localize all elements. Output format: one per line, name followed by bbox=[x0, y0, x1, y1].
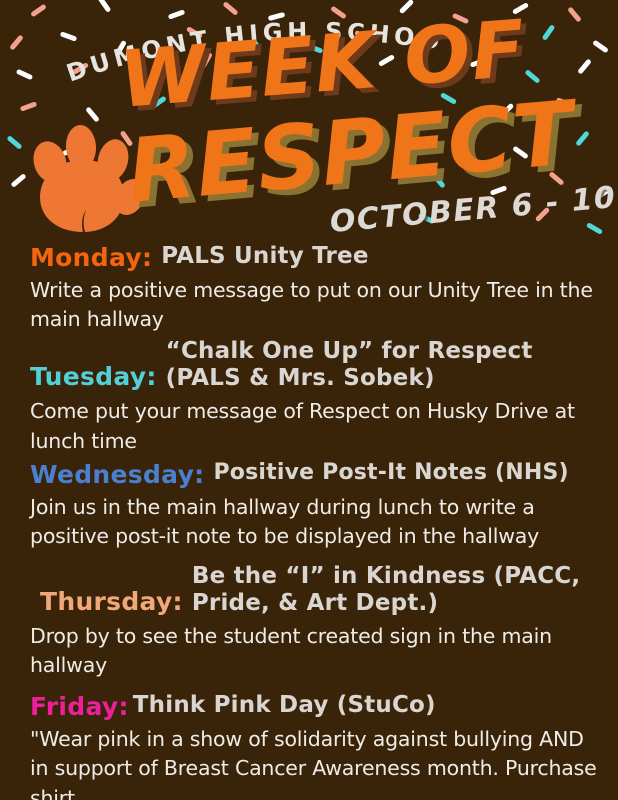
poster-hero: DUMONT HIGH SCHOOL WEEK OF RESPECT OCTOB… bbox=[0, 0, 618, 252]
schedule-item-monday: Monday: PALS Unity Tree Write a positive… bbox=[0, 245, 618, 334]
day-description-thursday: Drop by to see the student created sign … bbox=[30, 622, 600, 680]
day-description-tuesday: Come put your message of Respect on Husk… bbox=[30, 397, 600, 455]
day-description-friday: "Wear pink in a show of solidarity again… bbox=[30, 725, 600, 800]
day-label-tuesday: Tuesday: bbox=[30, 364, 157, 392]
day-label-wednesday: Wednesday: bbox=[30, 462, 204, 488]
schedule-item-thursday: Thursday: Be the “I” in Kindness (PACC, … bbox=[0, 563, 618, 680]
day-description-monday: Write a positive message to put on our U… bbox=[30, 276, 600, 334]
week-of-respect-poster: DUMONT HIGH SCHOOL WEEK OF RESPECT OCTOB… bbox=[0, 0, 618, 800]
schedule-item-friday: Friday: Think Pink Day (StuCo) "Wear pin… bbox=[0, 694, 618, 800]
day-title-wednesday: Positive Post-It Notes (NHS) bbox=[213, 462, 568, 485]
day-title-tuesday: “Chalk One Up” for Respect (PALS & Mrs. … bbox=[166, 338, 600, 392]
day-title-friday: Think Pink Day (StuCo) bbox=[133, 694, 436, 718]
schedule-item-wednesday: Wednesday: Positive Post-It Notes (NHS) … bbox=[0, 462, 618, 551]
day-label-thursday: Thursday: bbox=[40, 589, 183, 617]
day-label-friday: Friday: bbox=[30, 694, 129, 720]
schedule-list: Monday: PALS Unity Tree Write a positive… bbox=[0, 245, 618, 800]
schedule-item-tuesday: Tuesday: “Chalk One Up” for Respect (PAL… bbox=[0, 338, 618, 455]
day-title-thursday: Be the “I” in Kindness (PACC, Pride, & A… bbox=[192, 563, 600, 617]
day-label-monday: Monday: bbox=[30, 245, 152, 271]
day-title-monday: PALS Unity Tree bbox=[161, 245, 368, 269]
day-description-wednesday: Join us in the main hallway during lunch… bbox=[30, 493, 600, 551]
